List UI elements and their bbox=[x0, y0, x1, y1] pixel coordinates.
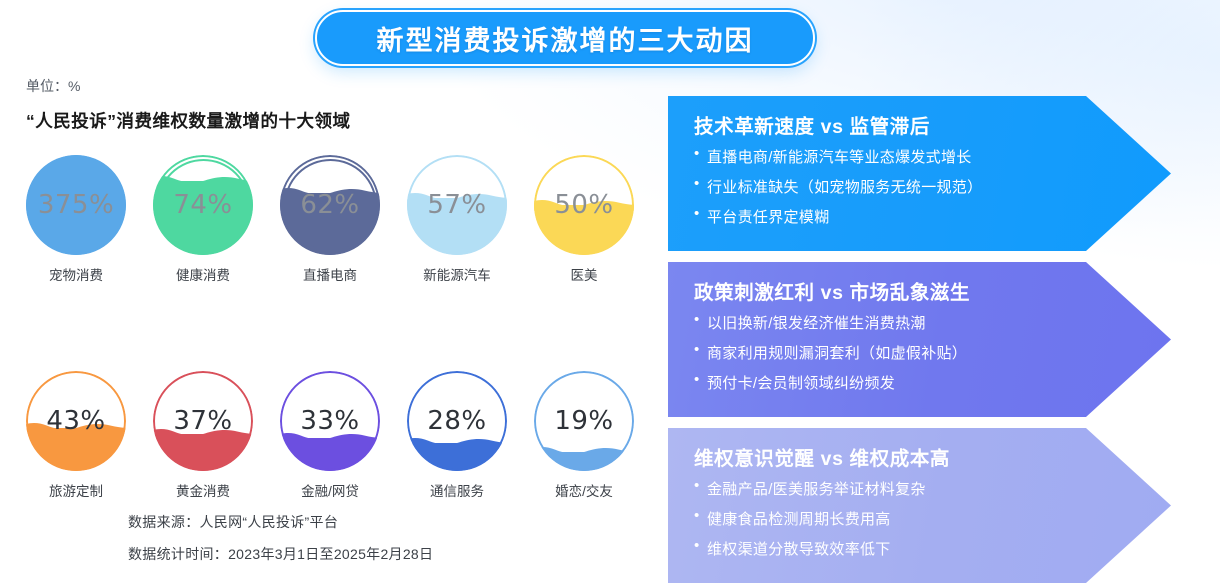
gauge-dial: 50% bbox=[534, 155, 634, 255]
driver-bullet: 行业标准缺失（如宠物服务无统一规范） bbox=[694, 176, 1171, 197]
driver-bullet: 以旧换新/银发经济催生消费热潮 bbox=[694, 312, 1171, 333]
gauge-dial: 375% bbox=[26, 155, 126, 255]
driver-bullet: 金融产品/医美服务举证材料复杂 bbox=[694, 478, 1171, 499]
gauge-4: 57%新能源汽车 bbox=[407, 155, 507, 284]
gauge-label: 宠物消费 bbox=[49, 264, 103, 284]
gauge-row-top: 375%宠物消费74%健康消费62%直播电商57%新能源汽车50%医美 bbox=[26, 155, 634, 284]
driver-block-3: 维权意识觉醒 vs 维权成本高金融产品/医美服务举证材料复杂健康食品检测周期长费… bbox=[668, 428, 1171, 583]
gauge-value: 28% bbox=[407, 371, 507, 471]
driver-block-1: 技术革新速度 vs 监管滞后直播电商/新能源汽车等业态爆发式增长行业标准缺失（如… bbox=[668, 96, 1171, 251]
gauge-10: 19%婚恋/交友 bbox=[534, 371, 634, 500]
gauge-label: 金融/网贷 bbox=[301, 480, 359, 500]
driver-block-2: 政策刺激红利 vs 市场乱象滋生以旧换新/银发经济催生消费热潮商家利用规则漏洞套… bbox=[668, 262, 1171, 417]
gauge-dial: 74% bbox=[153, 155, 253, 255]
driver-bullet: 预付卡/会员制领域纠纷频发 bbox=[694, 372, 1171, 393]
gauge-value: 43% bbox=[26, 371, 126, 471]
gauge-label: 旅游定制 bbox=[49, 480, 103, 500]
gauge-7: 37%黄金消费 bbox=[153, 371, 253, 500]
driver-heading: 维权意识觉醒 vs 维权成本高 bbox=[694, 442, 1171, 471]
driver-bullet: 直播电商/新能源汽车等业态爆发式增长 bbox=[694, 146, 1171, 167]
driver-bullet-list: 直播电商/新能源汽车等业态爆发式增长行业标准缺失（如宠物服务无统一规范）平台责任… bbox=[694, 146, 1171, 227]
driver-bullet: 商家利用规则漏洞套利（如虚假补贴） bbox=[694, 342, 1171, 363]
chart-heading: “人民投诉”消费维权数量激增的十大领域 bbox=[26, 108, 351, 133]
driver-bullet-list: 以旧换新/银发经济催生消费热潮商家利用规则漏洞套利（如虚假补贴）预付卡/会员制领… bbox=[694, 312, 1171, 393]
drivers-panel: 技术革新速度 vs 监管滞后直播电商/新能源汽车等业态爆发式增长行业标准缺失（如… bbox=[660, 0, 1220, 586]
gauge-dial: 28% bbox=[407, 371, 507, 471]
gauge-2: 74%健康消费 bbox=[153, 155, 253, 284]
gauge-label: 健康消费 bbox=[176, 264, 230, 284]
gauge-value: 62% bbox=[280, 155, 380, 255]
footnotes: 数据来源：人民网“人民投诉”平台数据统计时间：2023年3月1日至2025年2月… bbox=[128, 512, 433, 576]
gauge-value: 375% bbox=[26, 155, 126, 255]
gauge-dial: 33% bbox=[280, 371, 380, 471]
unit-label: 单位：% bbox=[26, 76, 80, 96]
gauge-label: 婚恋/交友 bbox=[555, 480, 613, 500]
gauge-dial: 43% bbox=[26, 371, 126, 471]
driver-bullet: 平台责任界定模糊 bbox=[694, 206, 1171, 227]
gauge-label: 新能源汽车 bbox=[423, 264, 491, 284]
footnote-1: 数据来源：人民网“人民投诉”平台 bbox=[128, 512, 433, 532]
gauge-label: 医美 bbox=[571, 264, 598, 284]
gauge-label: 通信服务 bbox=[430, 480, 484, 500]
gauge-value: 50% bbox=[534, 155, 634, 255]
gauge-dial: 62% bbox=[280, 155, 380, 255]
gauge-dial: 19% bbox=[534, 371, 634, 471]
driver-bullet: 维权渠道分散导致效率低下 bbox=[694, 538, 1171, 559]
footnote-2: 数据统计时间：2023年3月1日至2025年2月28日 bbox=[128, 544, 433, 564]
chart-panel: 单位：% “人民投诉”消费维权数量激增的十大领域 375%宠物消费74%健康消费… bbox=[0, 0, 650, 586]
gauge-value: 19% bbox=[534, 371, 634, 471]
gauge-dial: 37% bbox=[153, 371, 253, 471]
gauge-1: 375%宠物消费 bbox=[26, 155, 126, 284]
driver-bullet: 健康食品检测周期长费用高 bbox=[694, 508, 1171, 529]
driver-heading: 技术革新速度 vs 监管滞后 bbox=[694, 110, 1171, 139]
gauge-label: 黄金消费 bbox=[176, 480, 230, 500]
gauge-dial: 57% bbox=[407, 155, 507, 255]
gauge-value: 37% bbox=[153, 371, 253, 471]
gauge-label: 直播电商 bbox=[303, 264, 357, 284]
driver-bullet-list: 金融产品/医美服务举证材料复杂健康食品检测周期长费用高维权渠道分散导致效率低下 bbox=[694, 478, 1171, 559]
gauge-3: 62%直播电商 bbox=[280, 155, 380, 284]
driver-heading: 政策刺激红利 vs 市场乱象滋生 bbox=[694, 276, 1171, 305]
gauge-9: 28%通信服务 bbox=[407, 371, 507, 500]
gauge-5: 50%医美 bbox=[534, 155, 634, 284]
gauge-row-bottom: 43%旅游定制37%黄金消费33%金融/网贷28%通信服务19%婚恋/交友 bbox=[26, 371, 634, 500]
gauge-value: 74% bbox=[153, 155, 253, 255]
gauge-6: 43%旅游定制 bbox=[26, 371, 126, 500]
gauge-value: 33% bbox=[280, 371, 380, 471]
gauge-value: 57% bbox=[407, 155, 507, 255]
gauge-8: 33%金融/网贷 bbox=[280, 371, 380, 500]
